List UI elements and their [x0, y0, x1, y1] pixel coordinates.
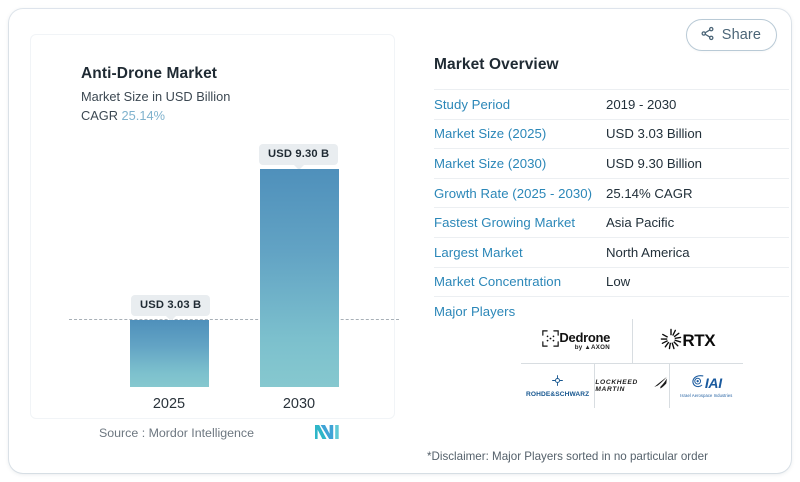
row-value: 2019 - 2030 — [606, 97, 676, 112]
table-row: Market Size (2030) USD 9.30 Billion — [434, 148, 789, 178]
share-nodes-icon — [700, 26, 715, 45]
row-value: USD 3.03 Billion — [606, 126, 702, 141]
share-button[interactable]: Share — [686, 19, 777, 51]
market-overview-panel: Market Overview Study Period 2019 - 2030… — [434, 56, 789, 326]
bar-fill — [260, 169, 339, 387]
logo-cell-lockheed-martin: LOCKHEED MARTIN — [594, 364, 668, 408]
bar-fill — [130, 320, 209, 387]
row-key: Largest Market — [434, 245, 606, 260]
row-value: Asia Pacific — [606, 215, 674, 230]
row-value: North America — [606, 245, 690, 260]
chart-title: Anti-Drone Market — [81, 65, 217, 83]
rtx-burst-icon — [660, 328, 682, 355]
chart-cagr-label: CAGR — [81, 108, 118, 123]
row-key: Major Players — [434, 304, 606, 319]
share-button-label: Share — [722, 27, 761, 43]
lockheed-martin-wordmark: LOCKHEED MARTIN — [595, 379, 648, 393]
chart-cagr-value: 25.14% — [122, 108, 165, 123]
chart-source: Source : Mordor Intelligence — [99, 426, 254, 440]
logo-cell-iai: IAI Israel Aerospace Industries — [669, 364, 743, 408]
disclaimer-text: *Disclaimer: Major Players sorted in no … — [427, 450, 708, 463]
major-players-logos: Dedrone by ▲AXON — [521, 319, 743, 408]
table-row: Market Concentration Low — [434, 267, 789, 297]
table-row: Market Size (2025) USD 3.03 Billion — [434, 119, 789, 149]
row-key: Market Concentration — [434, 274, 606, 289]
reference-line — [69, 319, 399, 320]
lockheed-star-icon — [652, 376, 669, 396]
table-row: Study Period 2019 - 2030 — [434, 89, 789, 119]
row-key: Fastest Growing Market — [434, 215, 606, 230]
row-value: USD 9.30 Billion — [606, 156, 702, 171]
row-key: Growth Rate (2025 - 2030) — [434, 186, 606, 201]
screenshot-root: Share Anti-Drone Market Market Size in U… — [0, 0, 800, 482]
dedrone-sub: by ▲AXON — [559, 345, 610, 351]
rohde-schwarz-wordmark: ROHDE&SCHWARZ — [526, 391, 589, 399]
row-key: Study Period — [434, 97, 606, 112]
row-key: Market Size (2030) — [434, 156, 606, 171]
logo-row-2: ROHDE&SCHWARZ LOCKHEED MARTIN — [521, 363, 743, 408]
row-value: Low — [606, 274, 630, 289]
chart-panel: Anti-Drone Market Market Size in USD Bil… — [30, 34, 395, 419]
chart-subtitle: Market Size in USD Billion — [81, 89, 230, 104]
row-key: Market Size (2025) — [434, 126, 606, 141]
bar-2025[interactable] — [130, 320, 209, 387]
table-row: Largest Market North America — [434, 237, 789, 267]
logo-row-1: Dedrone by ▲AXON — [521, 319, 743, 363]
mordor-intelligence-logo — [315, 422, 341, 444]
logo-cell-rtx: RTX — [632, 319, 744, 363]
iai-sub: Israel Aerospace Industries — [680, 394, 732, 398]
iai-globe-icon — [691, 374, 705, 393]
table-row: Fastest Growing Market Asia Pacific — [434, 207, 789, 237]
logo-cell-dedrone: Dedrone by ▲AXON — [521, 319, 632, 363]
rtx-wordmark: RTX — [682, 331, 715, 351]
logo-cell-rohde-schwarz: ROHDE&SCHWARZ — [521, 364, 594, 408]
bar-2030[interactable] — [260, 169, 339, 387]
table-row: Growth Rate (2025 - 2030) 25.14% CAGR — [434, 178, 789, 208]
chart-cagr: CAGR 25.14% — [81, 108, 165, 123]
market-overview-title: Market Overview — [434, 56, 789, 74]
iai-wordmark: IAI — [705, 376, 722, 390]
market-report-card: Share Anti-Drone Market Market Size in U… — [9, 9, 791, 473]
dedrone-wordmark: Dedrone by ▲AXON — [559, 331, 610, 352]
rohde-schwarz-mark-icon — [552, 373, 563, 390]
bar-value-label-2030: USD 9.30 B — [259, 144, 338, 165]
x-axis-label-2030: 2030 — [249, 396, 349, 412]
row-value: 25.14% CAGR — [606, 186, 693, 201]
bar-value-label-2025: USD 3.03 B — [131, 295, 210, 316]
x-axis-label-2025: 2025 — [119, 396, 219, 412]
dedrone-bracket-icon — [542, 330, 559, 352]
